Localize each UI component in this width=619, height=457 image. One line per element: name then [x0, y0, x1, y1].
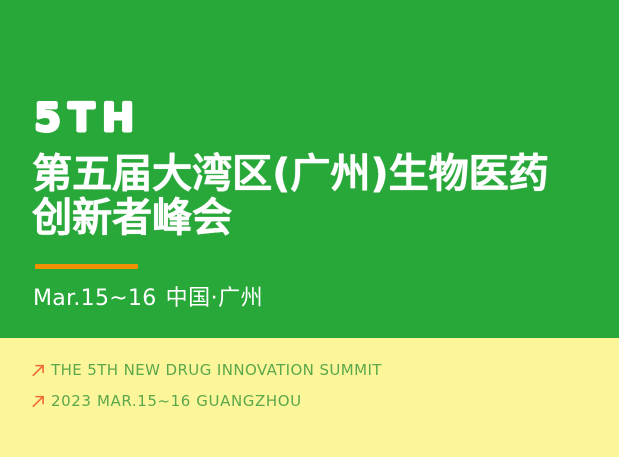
footer-caption-text-2: 2023 MAR.15~16 GUANGZHOU [51, 392, 302, 410]
list-item: 2023 MAR.15~16 GUANGZHOU [31, 389, 382, 413]
list-item: THE 5TH NEW DRUG INNOVATION SUMMIT [31, 358, 382, 382]
title-line-2: 创新者峰会 [32, 196, 619, 240]
footer-caption-text-1: THE 5TH NEW DRUG INNOVATION SUMMIT [51, 361, 382, 379]
title-line-1: 第五届大湾区(广州)生物医药 [32, 152, 619, 196]
event-date: Mar.15~16 [33, 286, 157, 311]
arrow-up-right-icon [31, 394, 46, 409]
conference-poster: 5TH 第五届大湾区(广州)生物医药 创新者峰会 Mar.15~16中国·广州 … [0, 0, 619, 457]
orange-divider-rule [35, 264, 138, 269]
arrow-up-right-icon [31, 363, 46, 378]
footer-caption-list: THE 5TH NEW DRUG INNOVATION SUMMIT 2023 … [31, 358, 382, 420]
event-location: 中国·广州 [166, 286, 264, 311]
page-title: 第五届大湾区(广州)生物医药 创新者峰会 [32, 152, 619, 240]
date-location-line: Mar.15~16中国·广州 [33, 285, 263, 313]
edition-badge: 5TH [34, 97, 141, 141]
